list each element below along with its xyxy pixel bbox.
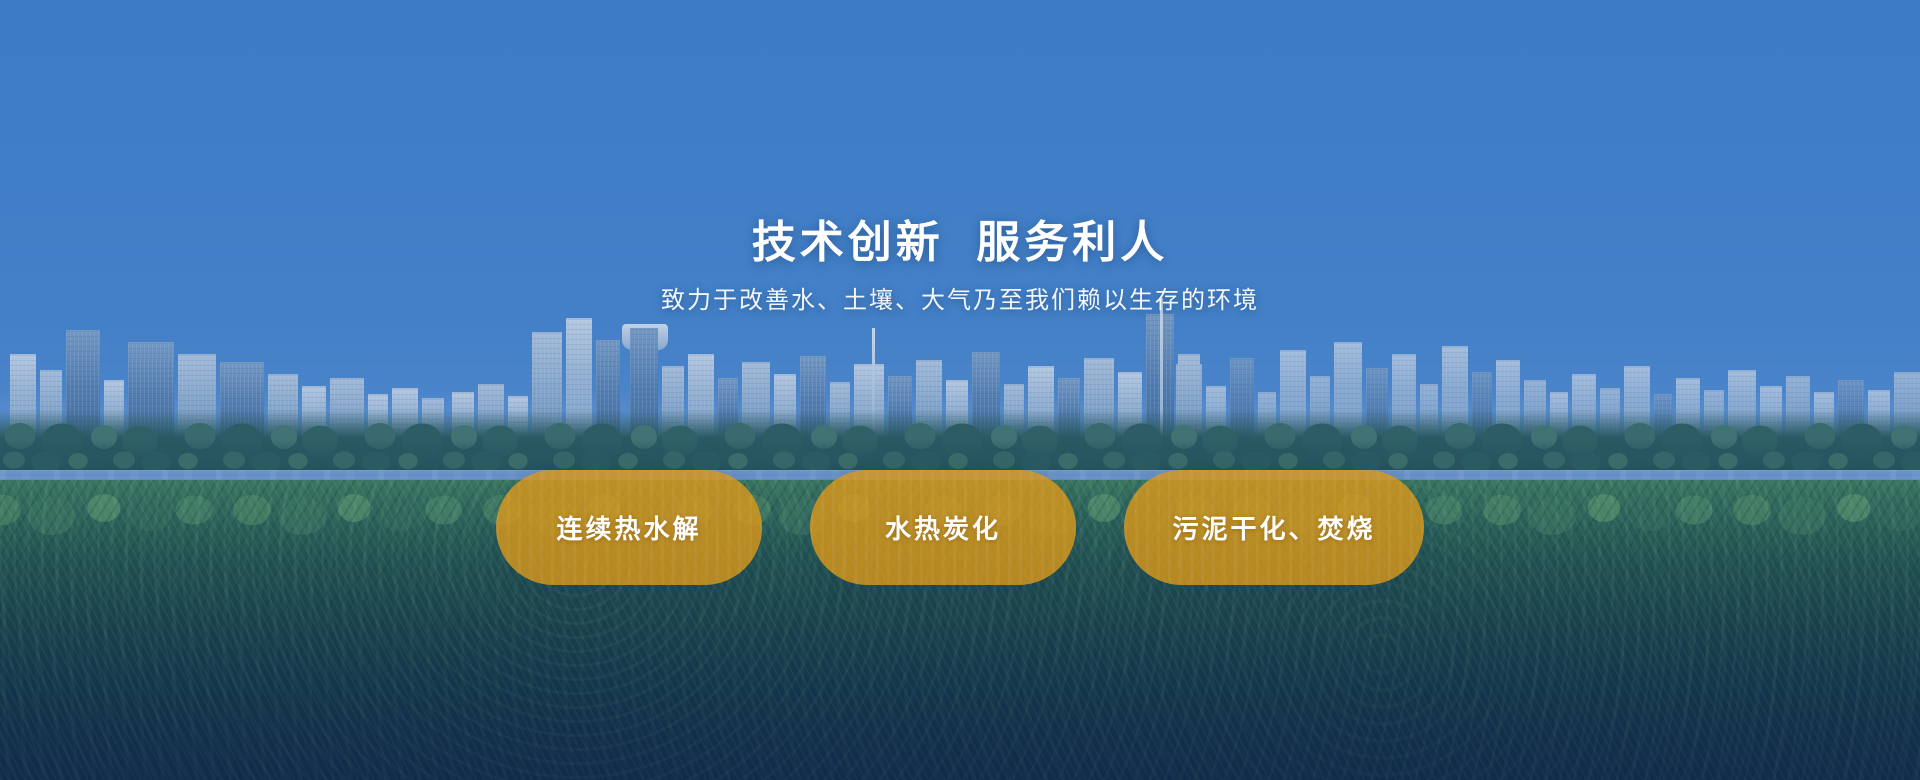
page-title: 技术创新 服务利人 bbox=[0, 216, 1920, 270]
hero-copy-block: 技术创新 服务利人 致力于改善水、土壤、大气乃至我们赖以生存的环境 bbox=[0, 216, 1920, 318]
pill-label: 水热炭化 bbox=[885, 509, 1001, 546]
page-subtitle: 致力于改善水、土壤、大气乃至我们赖以生存的环境 bbox=[0, 284, 1920, 319]
pill-button-sludge-drying-incineration[interactable]: 污泥干化、焚烧 bbox=[1124, 470, 1424, 585]
pill-label: 连续热水解 bbox=[556, 509, 701, 546]
pill-label: 污泥干化、焚烧 bbox=[1172, 509, 1375, 546]
hero-banner: 技术创新 服务利人 致力于改善水、土壤、大气乃至我们赖以生存的环境 连续热水解 … bbox=[0, 0, 1920, 780]
pill-button-hydrothermal-carbonization[interactable]: 水热炭化 bbox=[810, 470, 1076, 585]
pill-button-continuous-thermal-hydrolysis[interactable]: 连续热水解 bbox=[496, 470, 762, 585]
service-pill-row: 连续热水解 水热炭化 污泥干化、焚烧 bbox=[0, 470, 1920, 585]
